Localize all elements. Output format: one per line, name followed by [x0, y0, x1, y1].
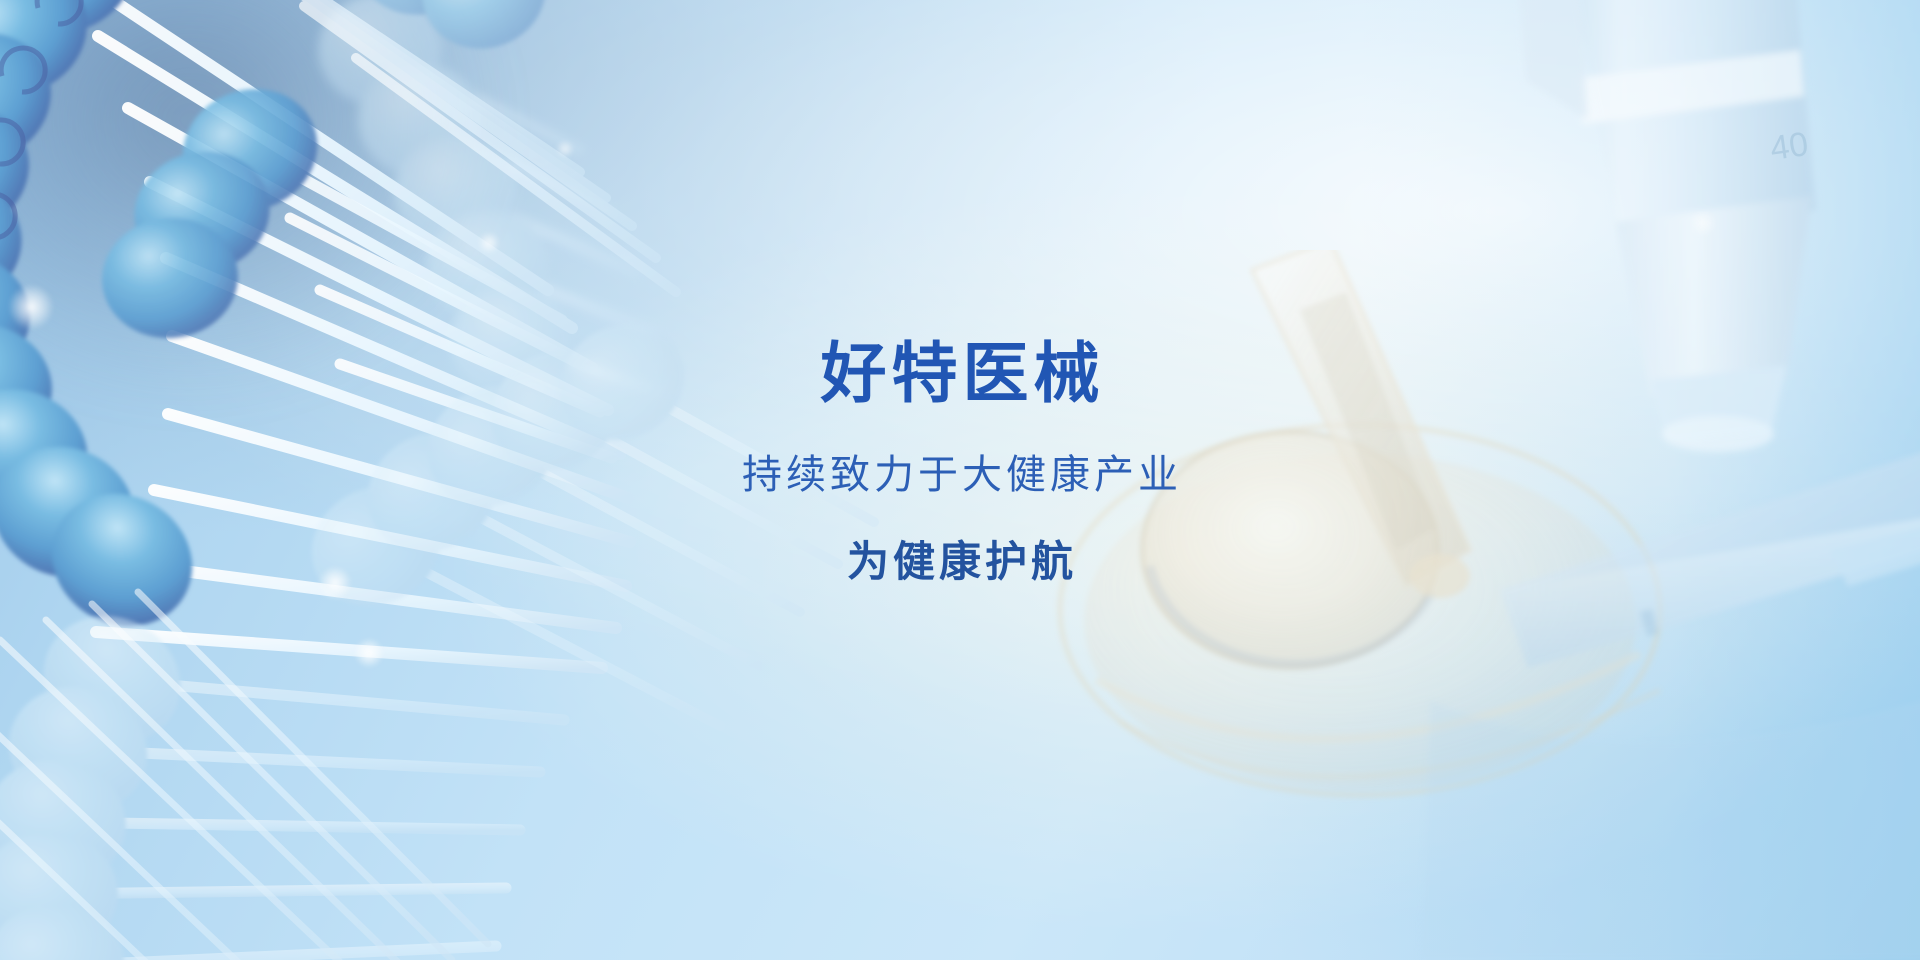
- bokeh-dot: [8, 284, 54, 330]
- hero-subtitle-primary: 持续致力于大健康产业: [0, 455, 1920, 495]
- bokeh-dot: [1690, 210, 1716, 236]
- hero-text-block: 好特医械 持续致力于大健康产业 为健康护航: [0, 340, 1920, 583]
- bokeh-dot: [354, 638, 384, 668]
- bokeh-dot: [478, 232, 500, 254]
- page-title: 好特医械: [0, 340, 1920, 407]
- hero-subtitle-secondary: 为健康护航: [0, 541, 1920, 583]
- bokeh-dot: [556, 140, 574, 158]
- hero-banner: 40: [0, 0, 1920, 960]
